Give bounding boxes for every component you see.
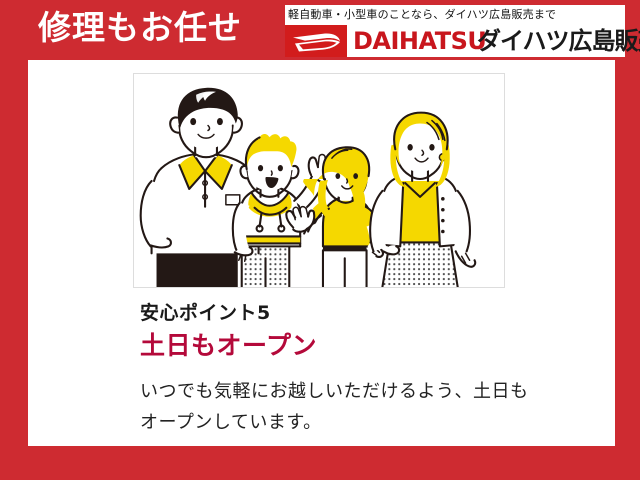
point-body: いつでも気軽にお越しいただけるよう、土日もオープンしています。 xyxy=(140,376,530,438)
point-label: 安心ポイント5 xyxy=(140,300,570,326)
family-illustration: .ln { fill:none; stroke:#231815; stroke-… xyxy=(133,73,505,288)
brand-logo-lockup: 軽自動車・小型車のことなら、ダイハツ広島販売まで DAIHATSU ダイハツ広島… xyxy=(285,5,625,57)
brand-jp-name: ダイハツ広島販売 xyxy=(477,26,640,56)
point-title: 土日もオープン xyxy=(140,330,570,362)
daihatsu-d-emblem-icon xyxy=(285,25,347,57)
header-band: 修理もお任せ 軽自動車・小型車のことなら、ダイハツ広島販売まで DAIHATSU… xyxy=(0,0,640,60)
tagline-bar: 軽自動車・小型車のことなら、ダイハツ広島販売まで xyxy=(285,5,625,25)
brand-wordmark: DAIHATSU xyxy=(353,26,486,56)
content-card: .ln { fill:none; stroke:#231815; stroke-… xyxy=(28,60,615,446)
page-headline: 修理もお任せ xyxy=(38,8,242,48)
advertisement-page: 修理もお任せ 軽自動車・小型車のことなら、ダイハツ広島販売まで DAIHATSU… xyxy=(0,0,640,480)
point-text-block: 安心ポイント5 土日もオープン いつでも気軽にお越しいただけるよう、土日もオープ… xyxy=(140,300,570,438)
brand-tagline: 軽自動車・小型車のことなら、ダイハツ広島販売まで xyxy=(288,7,556,23)
logo-row: DAIHATSU ダイハツ広島販売 xyxy=(285,25,625,57)
